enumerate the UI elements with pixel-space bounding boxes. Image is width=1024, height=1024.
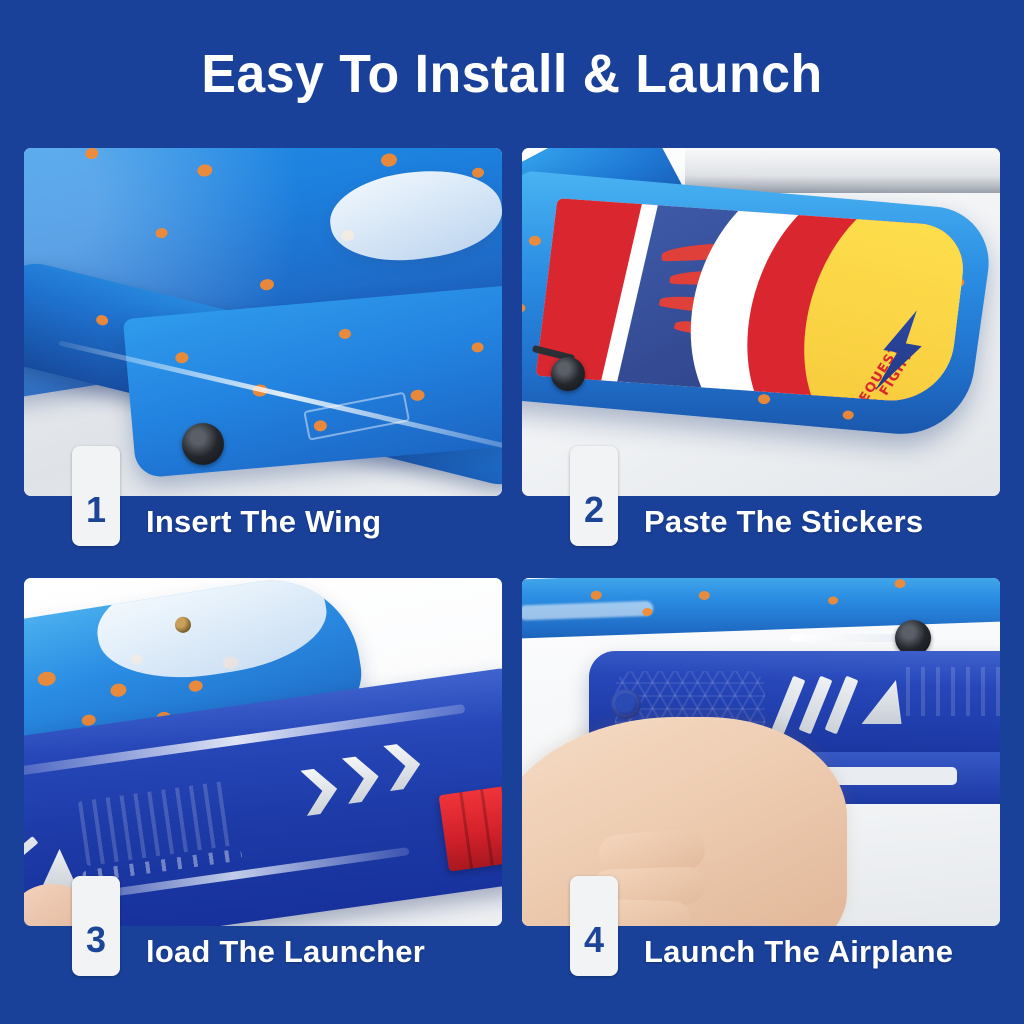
page-title: Easy To Install & Launch: [20, 46, 1003, 103]
step-number-badge-2: 2: [570, 446, 618, 546]
landing-wheel: [551, 357, 585, 391]
glider-wing: REQUEST TO FIGHT: [522, 170, 996, 439]
step-label-2: Paste The Stickers: [644, 504, 923, 540]
step-card-1[interactable]: 1 Insert The Wing: [24, 148, 502, 560]
chevron-arrow-icon: [384, 742, 424, 792]
photo-step-launch-airplane: [522, 578, 1000, 926]
step-caption-3: 3 load The Launcher: [24, 928, 502, 990]
photo-step-paste-stickers: REQUEST TO FIGHT: [522, 148, 1000, 496]
step-label-3: load The Launcher: [146, 934, 425, 970]
launcher-grip-ribs: [906, 667, 1000, 716]
chevron-arrow-icon: [342, 754, 382, 804]
step-number-2: 2: [584, 492, 604, 528]
step-card-4[interactable]: 4 Launch The Airplane: [522, 578, 1000, 990]
step-card-3[interactable]: 3 load The Launcher: [24, 578, 502, 990]
launcher-stripe: [24, 836, 38, 862]
step-caption-4: 4 Launch The Airplane: [522, 928, 1000, 990]
triangle-marker-icon: [862, 680, 902, 724]
step-label-4: Launch The Airplane: [644, 934, 953, 970]
step-number-1: 1: [86, 492, 106, 528]
step-number-badge-1: 1: [72, 446, 120, 546]
airplane-sticker-decal: REQUEST TO FIGHT: [536, 198, 969, 404]
chevron-arrow-icon: [301, 766, 341, 816]
photo-step-load-launcher: [24, 578, 502, 926]
step-number-4: 4: [584, 922, 604, 958]
step-caption-2: 2 Paste The Stickers: [522, 498, 1000, 560]
background-shelf: [685, 148, 1000, 193]
step-card-2[interactable]: REQUEST TO FIGHT 2 Paste The Stickers: [522, 148, 1000, 560]
step-caption-1: 1 Insert The Wing: [24, 498, 502, 560]
launcher-red-catch: [439, 784, 502, 872]
steps-grid: 1 Insert The Wing: [24, 148, 1000, 988]
photo-step-insert-wing: [24, 148, 502, 496]
step-number-3: 3: [86, 922, 106, 958]
step-number-badge-3: 3: [72, 876, 120, 976]
landing-wheel: [182, 423, 224, 465]
step-label-1: Insert The Wing: [146, 504, 381, 540]
handle-pivot-screw: [611, 689, 641, 719]
step-number-badge-4: 4: [570, 876, 618, 976]
product-infographic: Easy To Install & Launch: [0, 0, 1024, 1024]
